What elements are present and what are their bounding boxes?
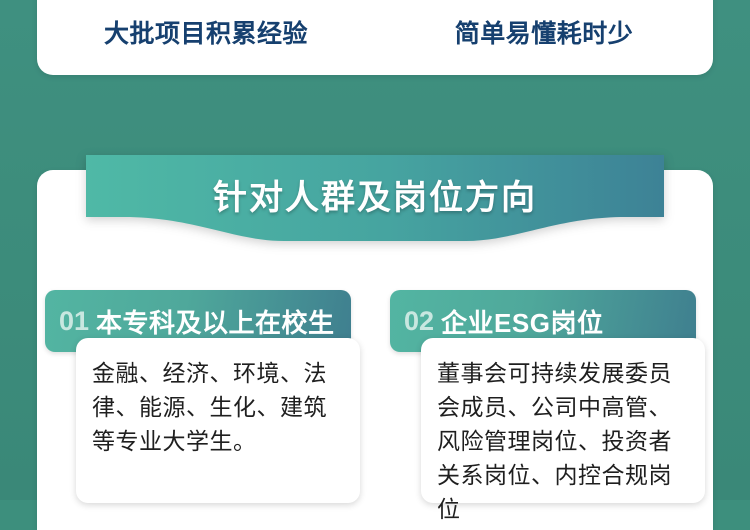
audience-item-2-title: 企业ESG岗位 (441, 303, 603, 340)
feature-label-2: 简单易懂耗时少 (455, 14, 634, 50)
banner-title: 针对人群及岗位方向 (86, 155, 664, 245)
audience-items: 01 本专科及以上在校生 金融、经济、环境、法律、能源、生化、建筑等专业大学生。… (37, 290, 713, 500)
features-card: 大批项目积累经验 简单易懂耗时少 (37, 0, 713, 75)
feature-item-2: 简单易懂耗时少 (375, 10, 713, 54)
audience-item-2: 02 企业ESG岗位 董事会可持续发展委员会成员、公司中高管、风险管理岗位、投资… (390, 290, 705, 500)
feature-item-1: 大批项目积累经验 (37, 10, 375, 54)
features-row: 大批项目积累经验 简单易懂耗时少 (37, 10, 713, 54)
audience-item-2-number: 02 (404, 306, 434, 337)
feature-label-1: 大批项目积累经验 (104, 14, 308, 50)
audience-item-2-text: 董事会可持续发展委员会成员、公司中高管、风险管理岗位、投资者关系岗位、内控合规岗… (437, 356, 689, 526)
audience-item-1: 01 本专科及以上在校生 金融、经济、环境、法律、能源、生化、建筑等专业大学生。 (45, 290, 360, 500)
audience-item-1-number: 01 (59, 306, 89, 337)
audience-item-2-body: 董事会可持续发展委员会成员、公司中高管、风险管理岗位、投资者关系岗位、内控合规岗… (421, 338, 705, 503)
page-root: 大批项目积累经验 简单易懂耗时少 针对人群及岗位方向 01 (0, 0, 750, 500)
audience-item-1-body: 金融、经济、环境、法律、能源、生化、建筑等专业大学生。 (76, 338, 360, 503)
section-banner: 针对人群及岗位方向 (86, 155, 664, 245)
audience-item-1-title: 本专科及以上在校生 (96, 303, 335, 340)
audience-item-1-text: 金融、经济、环境、法律、能源、生化、建筑等专业大学生。 (92, 356, 344, 458)
